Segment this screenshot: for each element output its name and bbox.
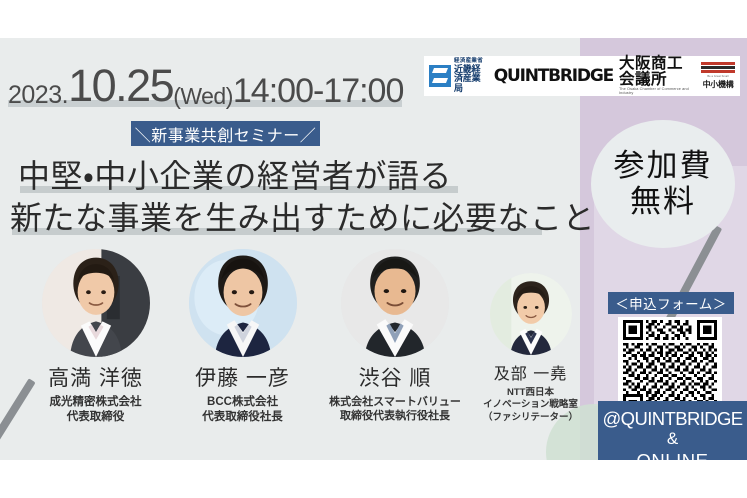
application-form-label: ＜申込フォーム＞ (608, 292, 734, 314)
speaker-card: 高満 洋徳 成光精密株式会社 代表取締役 (8, 249, 183, 425)
logo-osaka-chamber: 大阪商工会議所 The Osaka Chamber of Commerce an… (619, 56, 695, 96)
flyer-stage: 2023. 10.25 (Wed) 14:00-17:00 経済産業省 近畿経済… (0, 0, 747, 498)
logo-quintbridge: QUINTBRIDGE (494, 66, 613, 86)
occi-name: 大阪商工会議所 (619, 56, 695, 87)
speaker-card: 伊藤 一彦 BCC株式会社 代表取締役社長 (160, 249, 325, 425)
event-date: 2023. 10.25 (Wed) 14:00-17:00 (0, 56, 420, 108)
fee-value: 無料 (630, 184, 696, 220)
logo-meti-kansai: 経済産業省 近畿経済産業局 (429, 59, 488, 93)
meti-bureau-label: 近畿経済産業局 (454, 65, 488, 93)
title-line-2: 新たな事業を生み出すために必要なこと (10, 193, 595, 239)
sponsor-logo-bar: 経済産業省 近畿経済産業局 QUINTBRIDGE 大阪商工会議所 The Os… (424, 56, 740, 96)
smrj-name: 中小機構 (703, 79, 734, 90)
speaker-org: 成光精密株式会社 (8, 395, 183, 410)
speaker-card: 及部 一堯 NTT西日本 イノベーション戦略室 （ファシリテーター） (468, 273, 593, 424)
smrj-tagline: Be a Great Small (707, 75, 728, 78)
speaker-name: 渋谷 順 (305, 362, 485, 392)
smrj-bars-icon (701, 62, 735, 74)
participation-fee-badge: 参加費 無料 (591, 120, 735, 248)
venue-line-3: ONLINE (637, 450, 709, 460)
occi-english-name: The Osaka Chamber of Commerce and Indust… (619, 88, 695, 96)
speaker-name: 高満 洋徳 (8, 362, 183, 392)
venue-badge: @QUINTBRIDGE & ONLINE (598, 401, 747, 460)
title-line-1: 中堅・中小企業の経営者が語る (18, 151, 452, 197)
qr-code-icon (621, 320, 719, 414)
date-year: 2023. (8, 83, 68, 108)
portrait-icon (42, 249, 150, 357)
speaker-name: 及部 一堯 (468, 360, 593, 384)
speaker-role: 代表取締役 (8, 410, 183, 425)
portrait-icon (341, 249, 449, 357)
date-monthday: 10.25 (68, 63, 173, 108)
speaker-role: 取締役代表執行役社長 (305, 409, 485, 423)
speaker-photo (490, 273, 572, 355)
speaker-role-note: （ファシリテーター） (468, 412, 593, 424)
speaker-org: 株式会社スマートバリュー (305, 395, 485, 409)
speaker-photo (42, 249, 150, 357)
speaker-org: BCC株式会社 (160, 395, 325, 410)
speaker-role: 代表取締役社長 (160, 410, 325, 425)
venue-line-1: @QUINTBRIDGE (602, 408, 742, 430)
speaker-org: NTT西日本 (468, 387, 593, 399)
portrait-icon (490, 273, 572, 355)
flyer-canvas: 2023. 10.25 (Wed) 14:00-17:00 経済産業省 近畿経済… (0, 38, 747, 460)
speaker-photo (341, 249, 449, 357)
speaker-card: 渋谷 順 株式会社スマートバリュー 取締役代表執行役社長 (305, 249, 485, 424)
portrait-icon (189, 249, 297, 357)
venue-line-2: & (667, 429, 678, 449)
seminar-badge: ＼新事業共創セミナー／ (131, 121, 320, 146)
speaker-photo (189, 249, 297, 357)
speaker-list: 高満 洋徳 成光精密株式会社 代表取締役 (0, 243, 580, 458)
logo-smrj: Be a Great Small 中小機構 (701, 62, 735, 90)
meti-mark-icon (429, 65, 451, 87)
date-weekday: (Wed) (173, 85, 233, 108)
speaker-role: イノベーション戦略室 (468, 399, 593, 411)
speaker-name: 伊藤 一彦 (160, 362, 325, 392)
date-time: 14:00-17:00 (233, 74, 404, 108)
fee-label: 参加費 (614, 148, 713, 184)
